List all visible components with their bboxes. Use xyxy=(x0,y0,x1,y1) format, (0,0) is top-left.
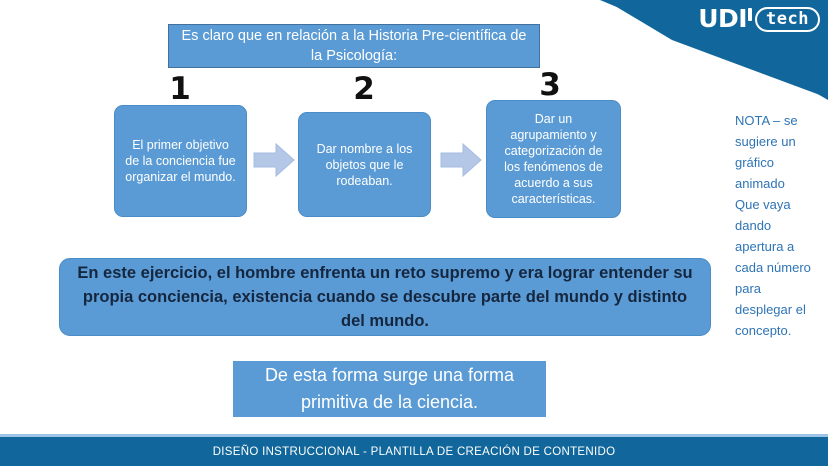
slide-canvas: UDI tech Es claro que en relación a la H… xyxy=(0,0,828,466)
step-box-1: El primer objetivo de la conciencia fue … xyxy=(114,105,247,217)
arrow-right-icon xyxy=(440,142,482,178)
step-number-2: 2 xyxy=(344,74,384,105)
step-box-2: Dar nombre a los objetos que le rodeaban… xyxy=(298,112,431,217)
step-box-3: Dar un agrupamiento y categorización de … xyxy=(486,100,621,218)
step-number-1: 1 xyxy=(160,74,200,105)
logo-tech-badge: tech xyxy=(755,7,820,32)
step-number-3: 3 xyxy=(530,70,570,101)
footer-text: DISEÑO INSTRUCCIONAL - PLANTILLA DE CREA… xyxy=(213,446,616,458)
statement-box: En este ejercicio, el hombre enfrenta un… xyxy=(59,258,711,336)
closing-box: De esta forma surge una forma primitiva … xyxy=(233,361,546,417)
logo-udi-text: UDI xyxy=(698,6,747,31)
logo-tick-icon xyxy=(748,8,752,21)
arrow-right-icon xyxy=(253,142,295,178)
header-banner: Es claro que en relación a la Historia P… xyxy=(168,24,540,68)
footer-bar: DISEÑO INSTRUCCIONAL - PLANTILLA DE CREA… xyxy=(0,437,828,466)
side-note: NOTA – se sugiere un gráfico animado Que… xyxy=(735,110,813,341)
udi-tech-logo: UDI tech xyxy=(698,4,820,34)
